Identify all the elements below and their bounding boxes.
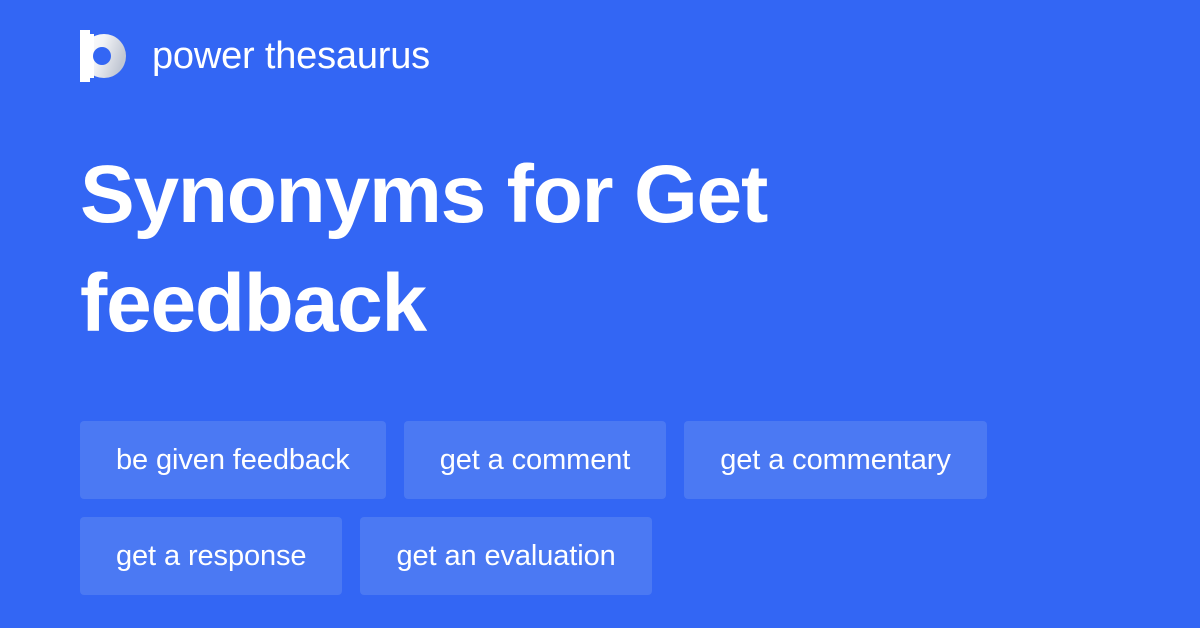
- brand-name: power thesaurus: [152, 37, 430, 75]
- power-thesaurus-logo-icon: [80, 30, 126, 82]
- synonym-chip-list: be given feedback get a comment get a co…: [80, 421, 1120, 595]
- synonym-chip[interactable]: get a comment: [404, 421, 667, 499]
- page-title: Synonyms for Get feedback: [80, 140, 1120, 358]
- synonym-chip[interactable]: be given feedback: [80, 421, 386, 499]
- synonym-chip[interactable]: get an evaluation: [360, 517, 651, 595]
- synonym-chip[interactable]: get a commentary: [684, 421, 987, 499]
- synonym-chip[interactable]: get a response: [80, 517, 342, 595]
- brand-header[interactable]: power thesaurus: [80, 28, 430, 84]
- share-card: power thesaurus Synonyms for Get feedbac…: [0, 0, 1200, 628]
